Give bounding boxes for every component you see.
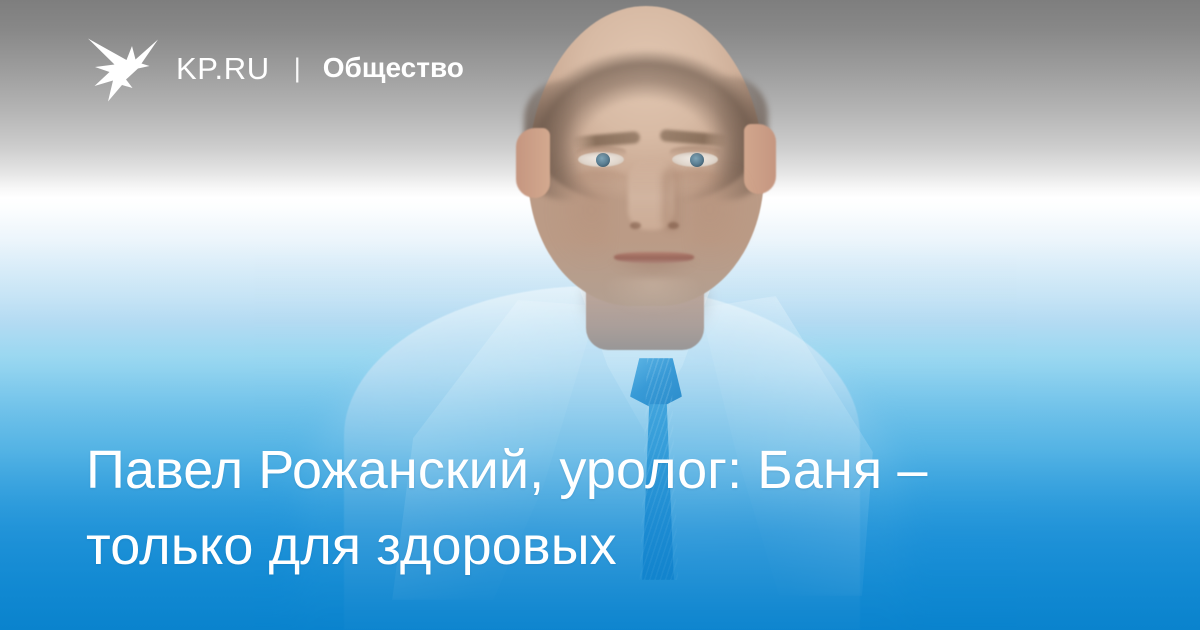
header-divider: |: [294, 55, 301, 82]
social-share-card: KP.RU | Общество Павел Рожанский, уролог…: [0, 0, 1200, 630]
site-header: KP.RU | Общество: [86, 33, 464, 103]
brand-label[interactable]: KP.RU: [176, 53, 270, 84]
kp-swallow-bird-icon[interactable]: [86, 33, 160, 103]
chin: [604, 278, 702, 314]
article-headline: Павел Рожанский, уролог: Баня – только д…: [86, 432, 1086, 584]
eyelid-left: [576, 146, 626, 156]
cheek-left: [548, 172, 610, 268]
nostril-right: [668, 222, 679, 229]
ear-left: [516, 128, 550, 198]
eyelid-right: [670, 146, 720, 156]
nostril-left: [630, 222, 641, 229]
under-eye-left: [574, 170, 628, 186]
rubric-label[interactable]: Общество: [323, 54, 464, 82]
lower-lip-shadow: [608, 260, 700, 278]
